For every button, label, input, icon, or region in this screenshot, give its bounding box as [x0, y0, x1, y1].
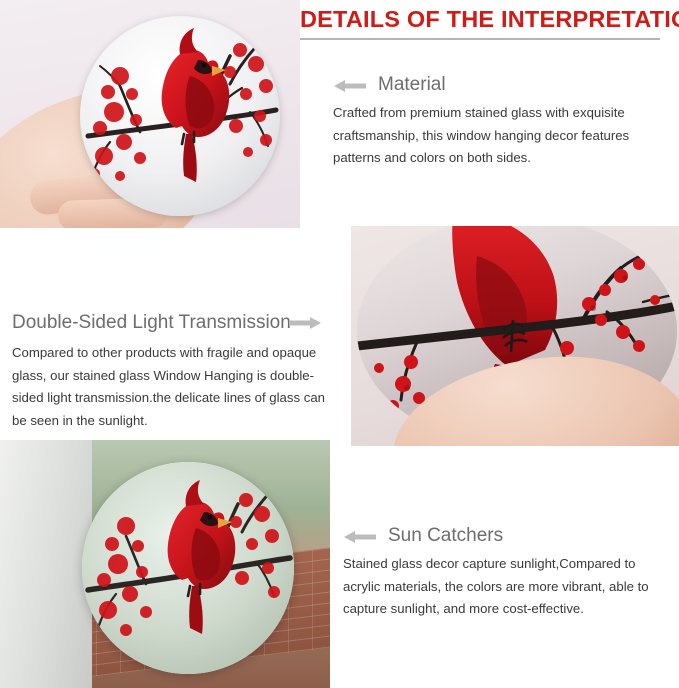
suncatcher-window-disc	[82, 462, 294, 674]
product-detail-infographic: DETAILS OF THE INTERPRETATION	[0, 0, 679, 688]
section-heading-double-sided: Double-Sided Light Transmission	[12, 312, 291, 334]
double-sided-photo	[351, 226, 679, 446]
material-photo	[0, 0, 300, 228]
section-body-material: Crafted from premium stained glass with …	[333, 102, 663, 170]
cardinal-window-artwork-icon	[82, 462, 294, 674]
window-frame	[0, 440, 92, 688]
section-body-sun-catchers: Stained glass decor capture sunlight,Com…	[343, 553, 671, 621]
title-divider	[300, 38, 660, 40]
arrow-left-icon	[343, 529, 377, 545]
suncatcher-disc	[80, 16, 280, 216]
arrow-right-icon	[288, 315, 322, 331]
sun-catchers-photo	[0, 440, 330, 688]
cardinal-artwork-icon	[80, 16, 280, 216]
section-body-double-sided: Compared to other products with fragile …	[12, 342, 340, 433]
section-heading-sun-catchers: Sun Catchers	[388, 525, 503, 547]
section-heading-material: Material	[378, 74, 446, 96]
page-title: DETAILS OF THE INTERPRETATION	[300, 6, 670, 33]
arrow-left-icon	[333, 78, 367, 94]
